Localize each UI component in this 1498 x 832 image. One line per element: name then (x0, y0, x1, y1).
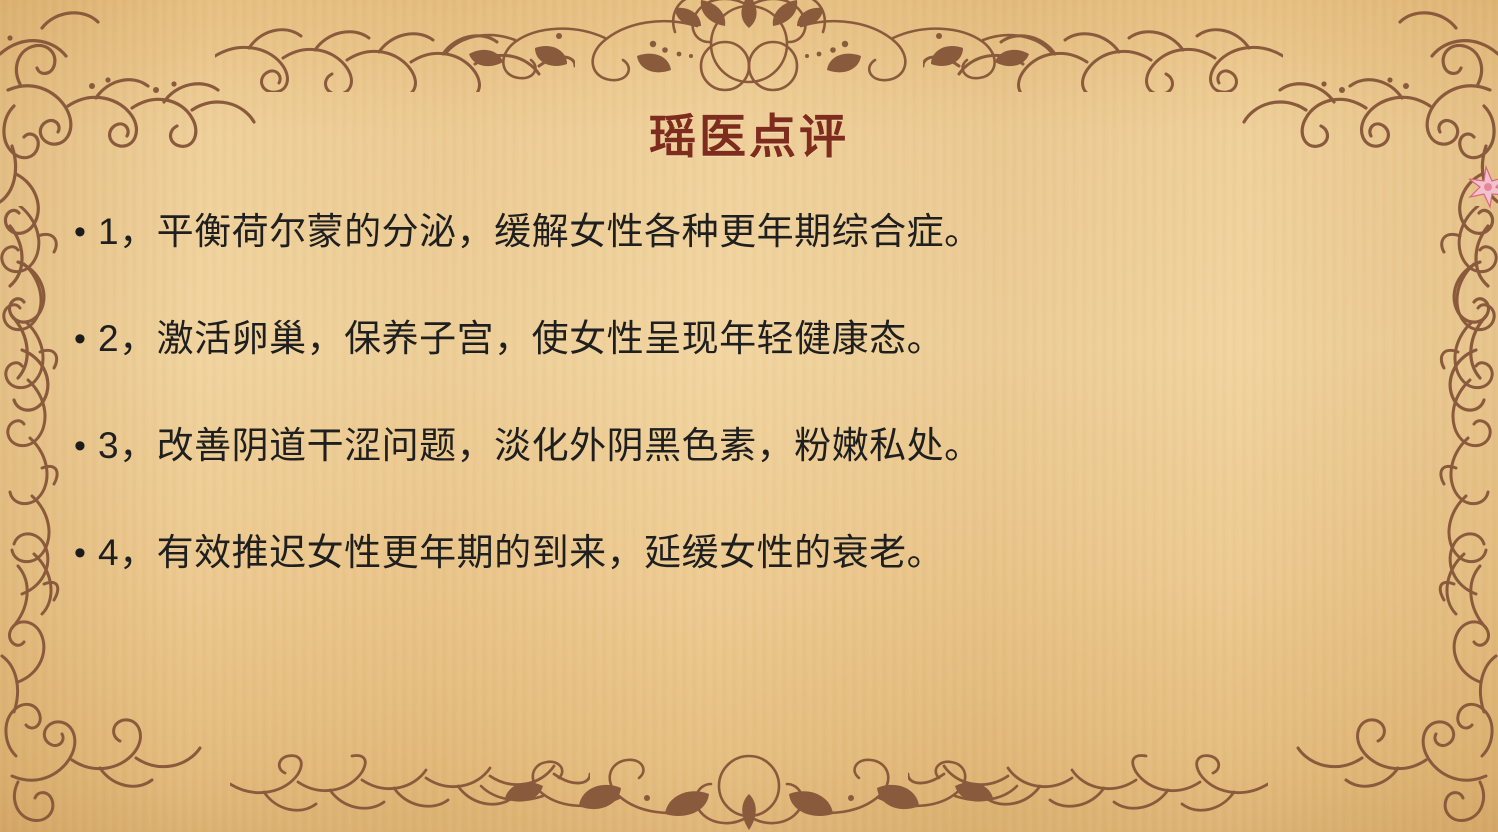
bullet-marker-icon: • (68, 312, 98, 366)
slide-content: 瑶医点评 • 1，平衡荷尔蒙的分泌，缓解女性各种更年期综合症。 • 2，激活卵巢… (0, 0, 1498, 832)
slide-canvas: 瑶医点评 • 1，平衡荷尔蒙的分泌，缓解女性各种更年期综合症。 • 2，激活卵巢… (0, 0, 1498, 832)
bullet-marker-icon: • (68, 526, 98, 580)
list-item: • 2，激活卵巢，保养子宫，使女性呈现年轻健康态。 (68, 312, 1438, 419)
list-item: • 4，有效推迟女性更年期的到来，延缓女性的衰老。 (68, 526, 1438, 633)
bullet-marker-icon: • (68, 419, 98, 473)
bullet-text: 4，有效推迟女性更年期的到来，延缓女性的衰老。 (98, 526, 944, 580)
bullet-text: 3，改善阴道干涩问题，淡化外阴黑色素，粉嫩私处。 (98, 419, 982, 473)
page-title: 瑶医点评 (0, 98, 1498, 167)
bullet-text: 2，激活卵巢，保养子宫，使女性呈现年轻健康态。 (98, 312, 944, 366)
bullet-text: 1，平衡荷尔蒙的分泌，缓解女性各种更年期综合症。 (98, 205, 982, 259)
bullet-list: • 1，平衡荷尔蒙的分泌，缓解女性各种更年期综合症。 • 2，激活卵巢，保养子宫… (68, 205, 1438, 633)
bullet-marker-icon: • (68, 205, 98, 259)
list-item: • 1，平衡荷尔蒙的分泌，缓解女性各种更年期综合症。 (68, 205, 1438, 312)
list-item: • 3，改善阴道干涩问题，淡化外阴黑色素，粉嫩私处。 (68, 419, 1438, 526)
